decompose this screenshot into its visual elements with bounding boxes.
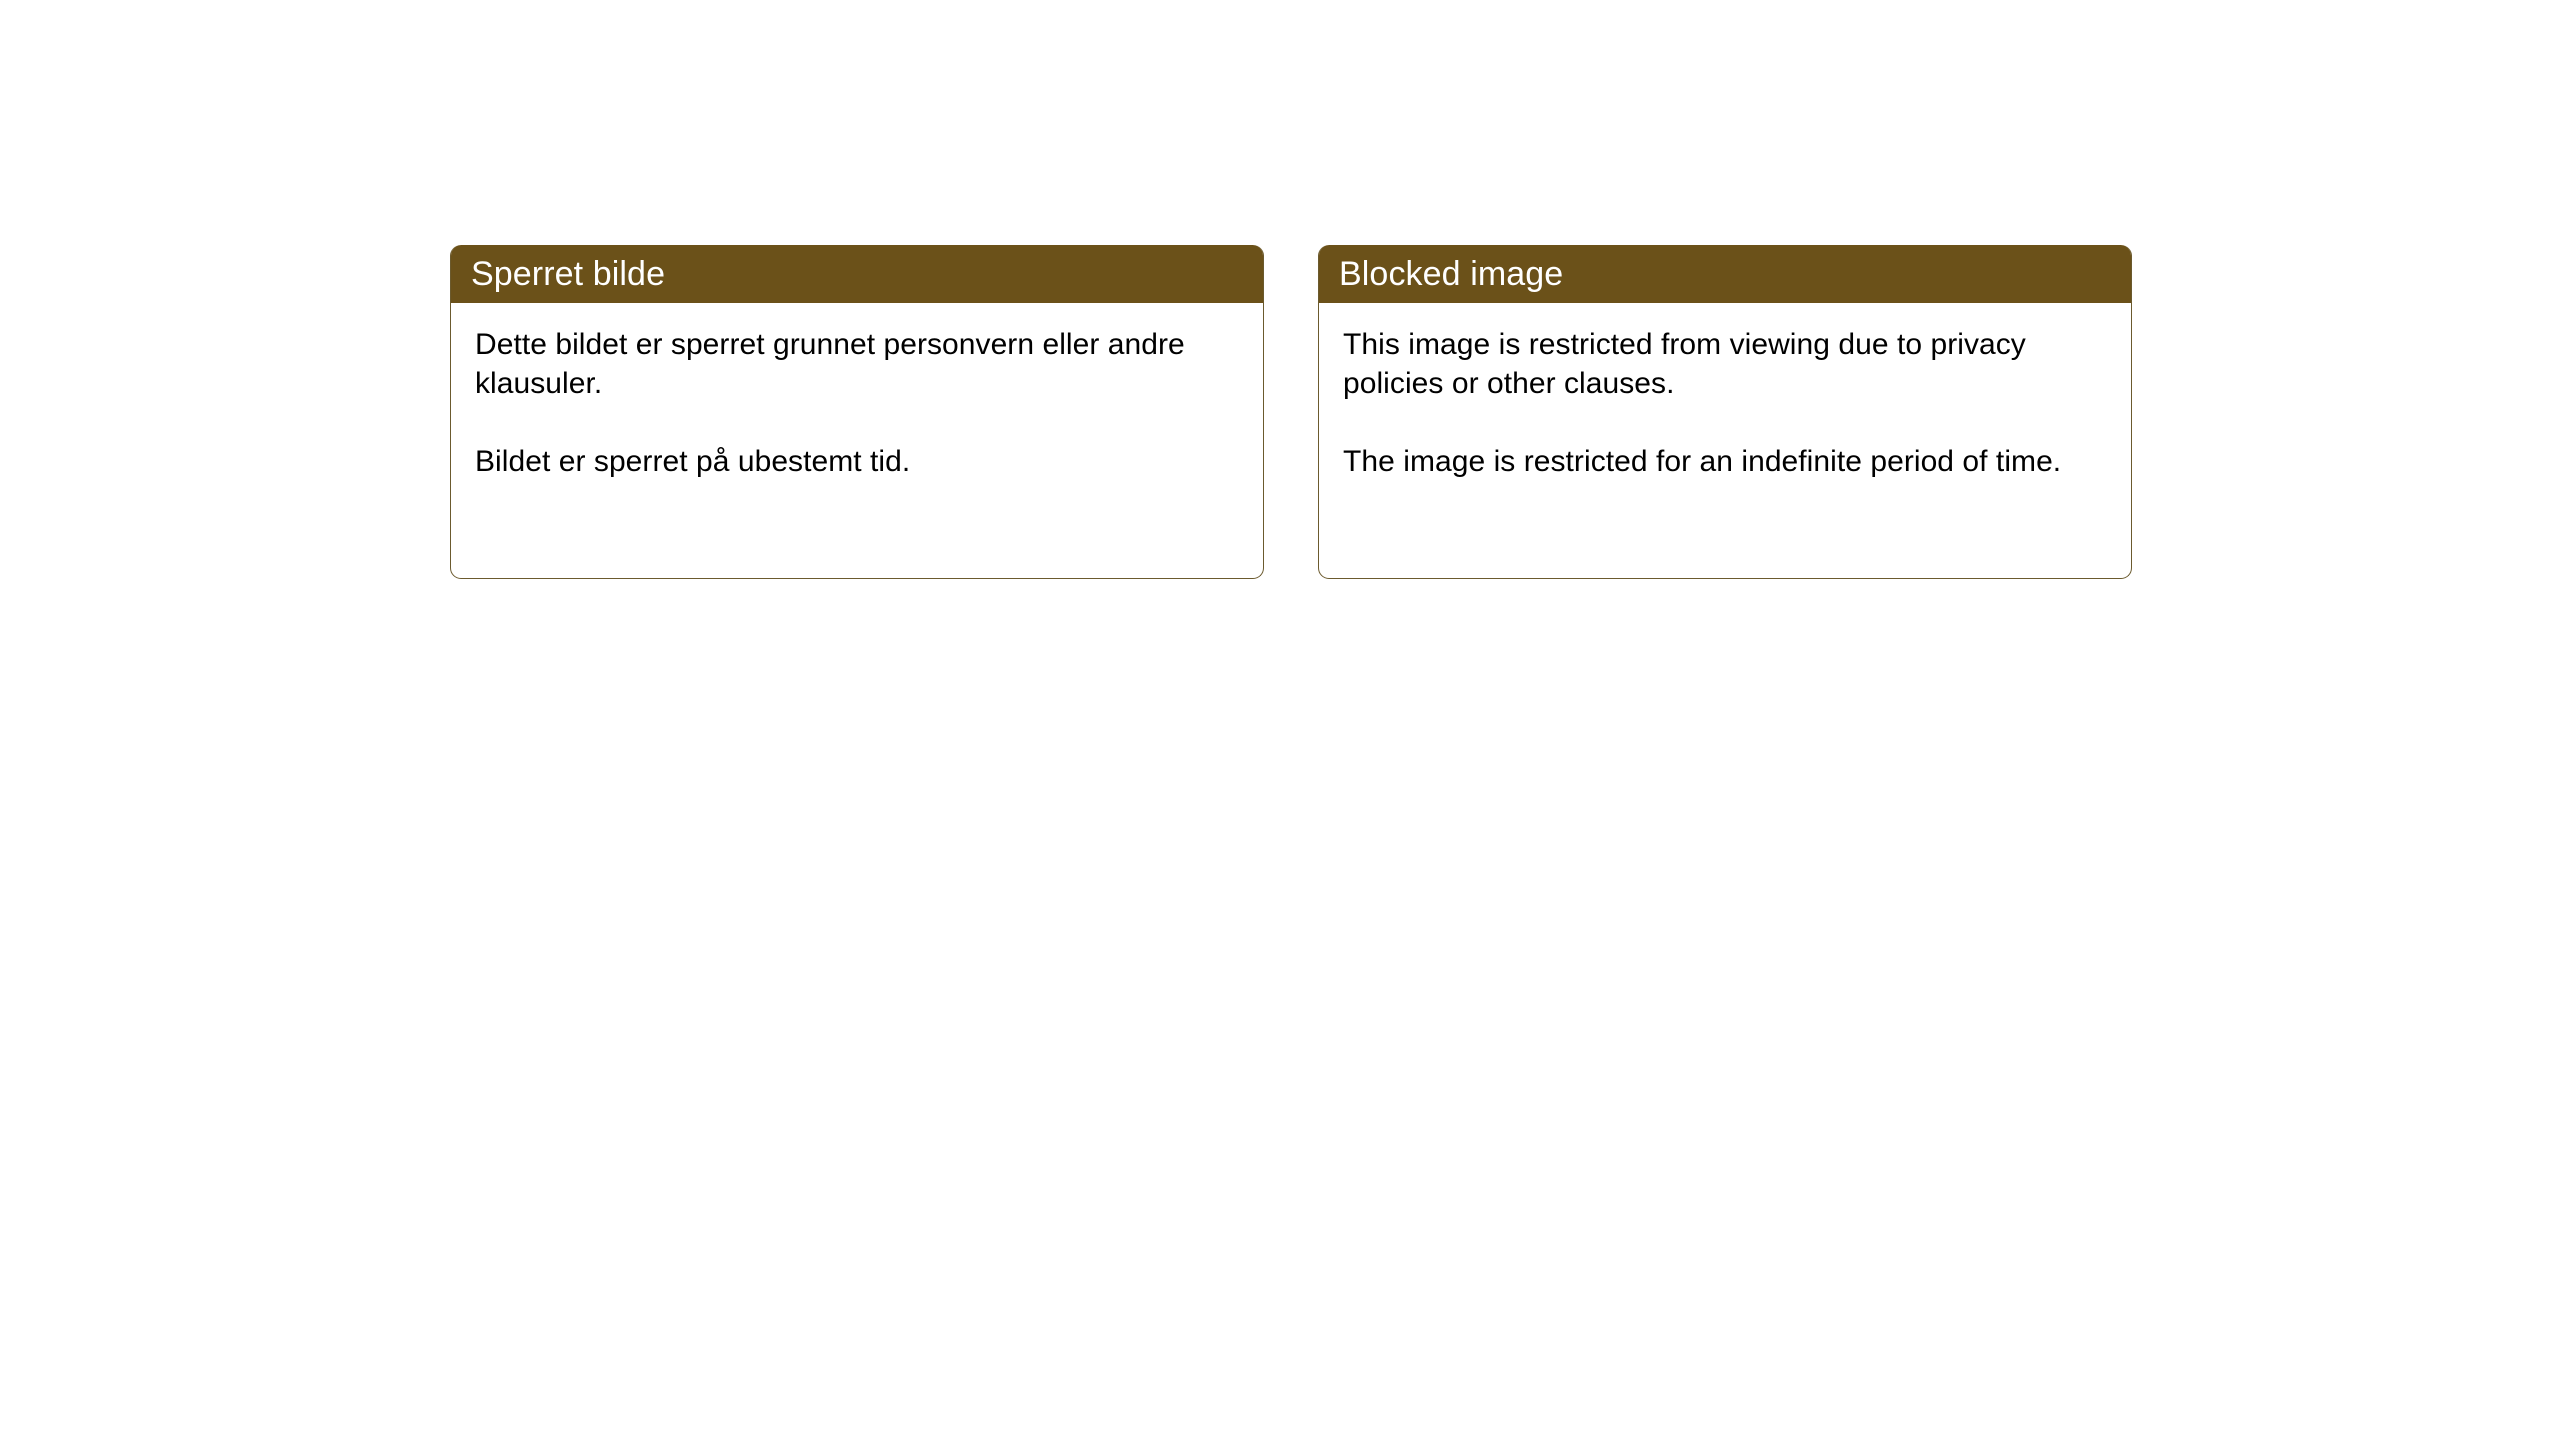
page-root: Sperret bilde Dette bildet er sperret gr…	[0, 0, 2560, 1440]
card-header-english: Blocked image	[1318, 245, 2132, 303]
card-header-norwegian: Sperret bilde	[450, 245, 1264, 303]
card-title-english: Blocked image	[1339, 257, 1563, 291]
card-paragraph-primary-english: This image is restricted from viewing du…	[1343, 325, 2107, 403]
card-paragraph-primary-norwegian: Dette bildet er sperret grunnet personve…	[475, 325, 1239, 403]
card-title-norwegian: Sperret bilde	[471, 257, 665, 291]
card-body-english: This image is restricted from viewing du…	[1319, 303, 2131, 578]
blocked-image-card-norwegian: Sperret bilde Dette bildet er sperret gr…	[450, 245, 1264, 579]
blocked-image-card-english: Blocked image This image is restricted f…	[1318, 245, 2132, 579]
card-body-norwegian: Dette bildet er sperret grunnet personve…	[451, 303, 1263, 578]
card-paragraph-secondary-norwegian: Bildet er sperret på ubestemt tid.	[475, 442, 1239, 481]
card-paragraph-secondary-english: The image is restricted for an indefinit…	[1343, 442, 2107, 481]
notice-card-row: Sperret bilde Dette bildet er sperret gr…	[450, 245, 2132, 579]
